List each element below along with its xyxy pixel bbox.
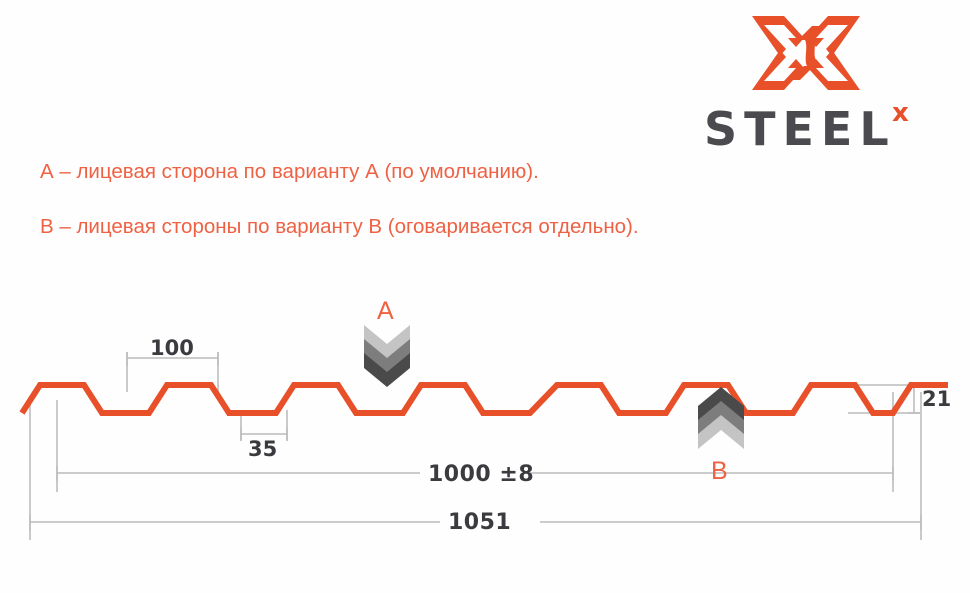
profile-drawing: [0, 0, 970, 593]
sheet-profile-path: [22, 385, 948, 413]
drawing-canvas: STEEL x А – лицевая сторона по варианту …: [0, 0, 970, 593]
dimension-label-1000: 1000 ±8: [428, 462, 534, 487]
dimension-label-1051: 1051: [448, 510, 511, 535]
dimension-label-100: 100: [150, 336, 194, 360]
marker-label-b: В: [711, 457, 728, 486]
dimension-label-35: 35: [248, 437, 277, 461]
dimension-label-21: 21: [922, 387, 951, 411]
marker-side-a: [364, 325, 410, 387]
marker-label-a: А: [377, 297, 394, 326]
